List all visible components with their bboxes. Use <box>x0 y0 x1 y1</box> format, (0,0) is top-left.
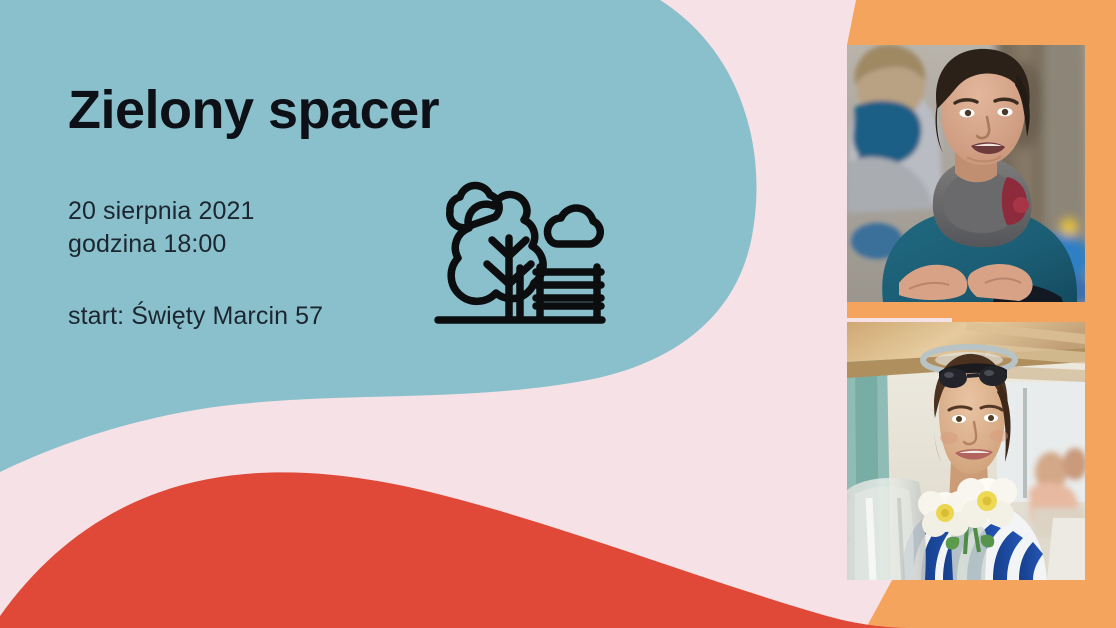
photo-woman-striped-top <box>847 322 1085 580</box>
event-poster: Zielony spacer 20 sierpnia 2021 godzina … <box>0 0 1116 628</box>
page-title: Zielony spacer <box>68 82 628 139</box>
cloud-icon <box>547 208 600 244</box>
photo2-chair <box>1047 518 1085 580</box>
photo2-glass-pitcher <box>847 478 926 580</box>
photo-woman-teal-sweater <box>847 45 1085 302</box>
park-tree-bench-cloud-icon <box>432 172 608 344</box>
